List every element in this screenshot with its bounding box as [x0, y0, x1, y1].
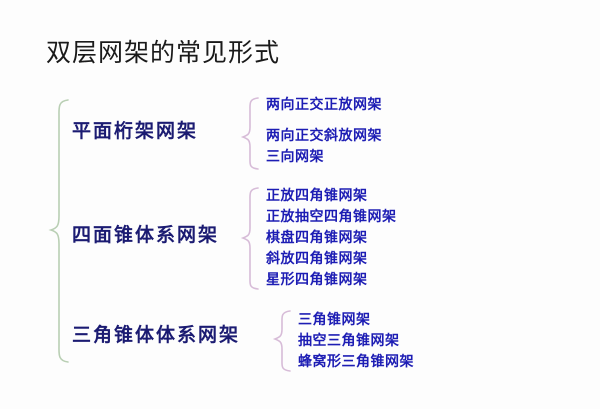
category-label-triangular-pyramid[interactable]: 三角锥体体系网架 — [72, 324, 240, 346]
leaf-item[interactable]: 正放抽空四角锥网架 — [266, 207, 397, 228]
category-label-planar-truss[interactable]: 平面桁架网架 — [72, 120, 198, 142]
slide-canvas: 双层网架的常见形式 平面桁架网架 两向正交正放网架 两向正交斜放网架 三向网架 … — [0, 0, 600, 409]
leaf-item[interactable]: 棋盘四角锥网架 — [266, 228, 397, 249]
leaf-item[interactable]: 两向正交斜放网架 — [266, 126, 382, 147]
leaf-item[interactable]: 星形四角锥网架 — [266, 270, 397, 291]
leaf-item[interactable]: 蜂窝形三角锥网架 — [298, 352, 414, 373]
leaf-item[interactable]: 两向正交正放网架 — [266, 95, 382, 116]
leaf-group-planar-truss: 两向正交正放网架 两向正交斜放网架 三向网架 — [266, 95, 382, 168]
leaf-item[interactable]: 三角锥网架 — [298, 310, 414, 331]
leaf-item[interactable]: 抽空三角锥网架 — [298, 331, 414, 352]
inner-brace-1 — [243, 98, 258, 169]
leaf-item[interactable]: 斜放四角锥网架 — [266, 249, 397, 270]
inner-brace-2 — [243, 188, 258, 289]
leaf-group-four-sided-pyramid: 正放四角锥网架 正放抽空四角锥网架 棋盘四角锥网架 斜放四角锥网架 星形四角锥网… — [266, 186, 397, 291]
inner-brace-3 — [275, 311, 290, 371]
leaf-group-triangular-pyramid: 三角锥网架 抽空三角锥网架 蜂窝形三角锥网架 — [298, 310, 414, 373]
page-title: 双层网架的常见形式 — [46, 38, 280, 68]
category-label-four-sided-pyramid[interactable]: 四面锥体系网架 — [72, 224, 219, 246]
outer-brace — [51, 100, 68, 362]
leaf-item[interactable]: 正放四角锥网架 — [266, 186, 397, 207]
leaf-item[interactable]: 三向网架 — [266, 147, 382, 168]
